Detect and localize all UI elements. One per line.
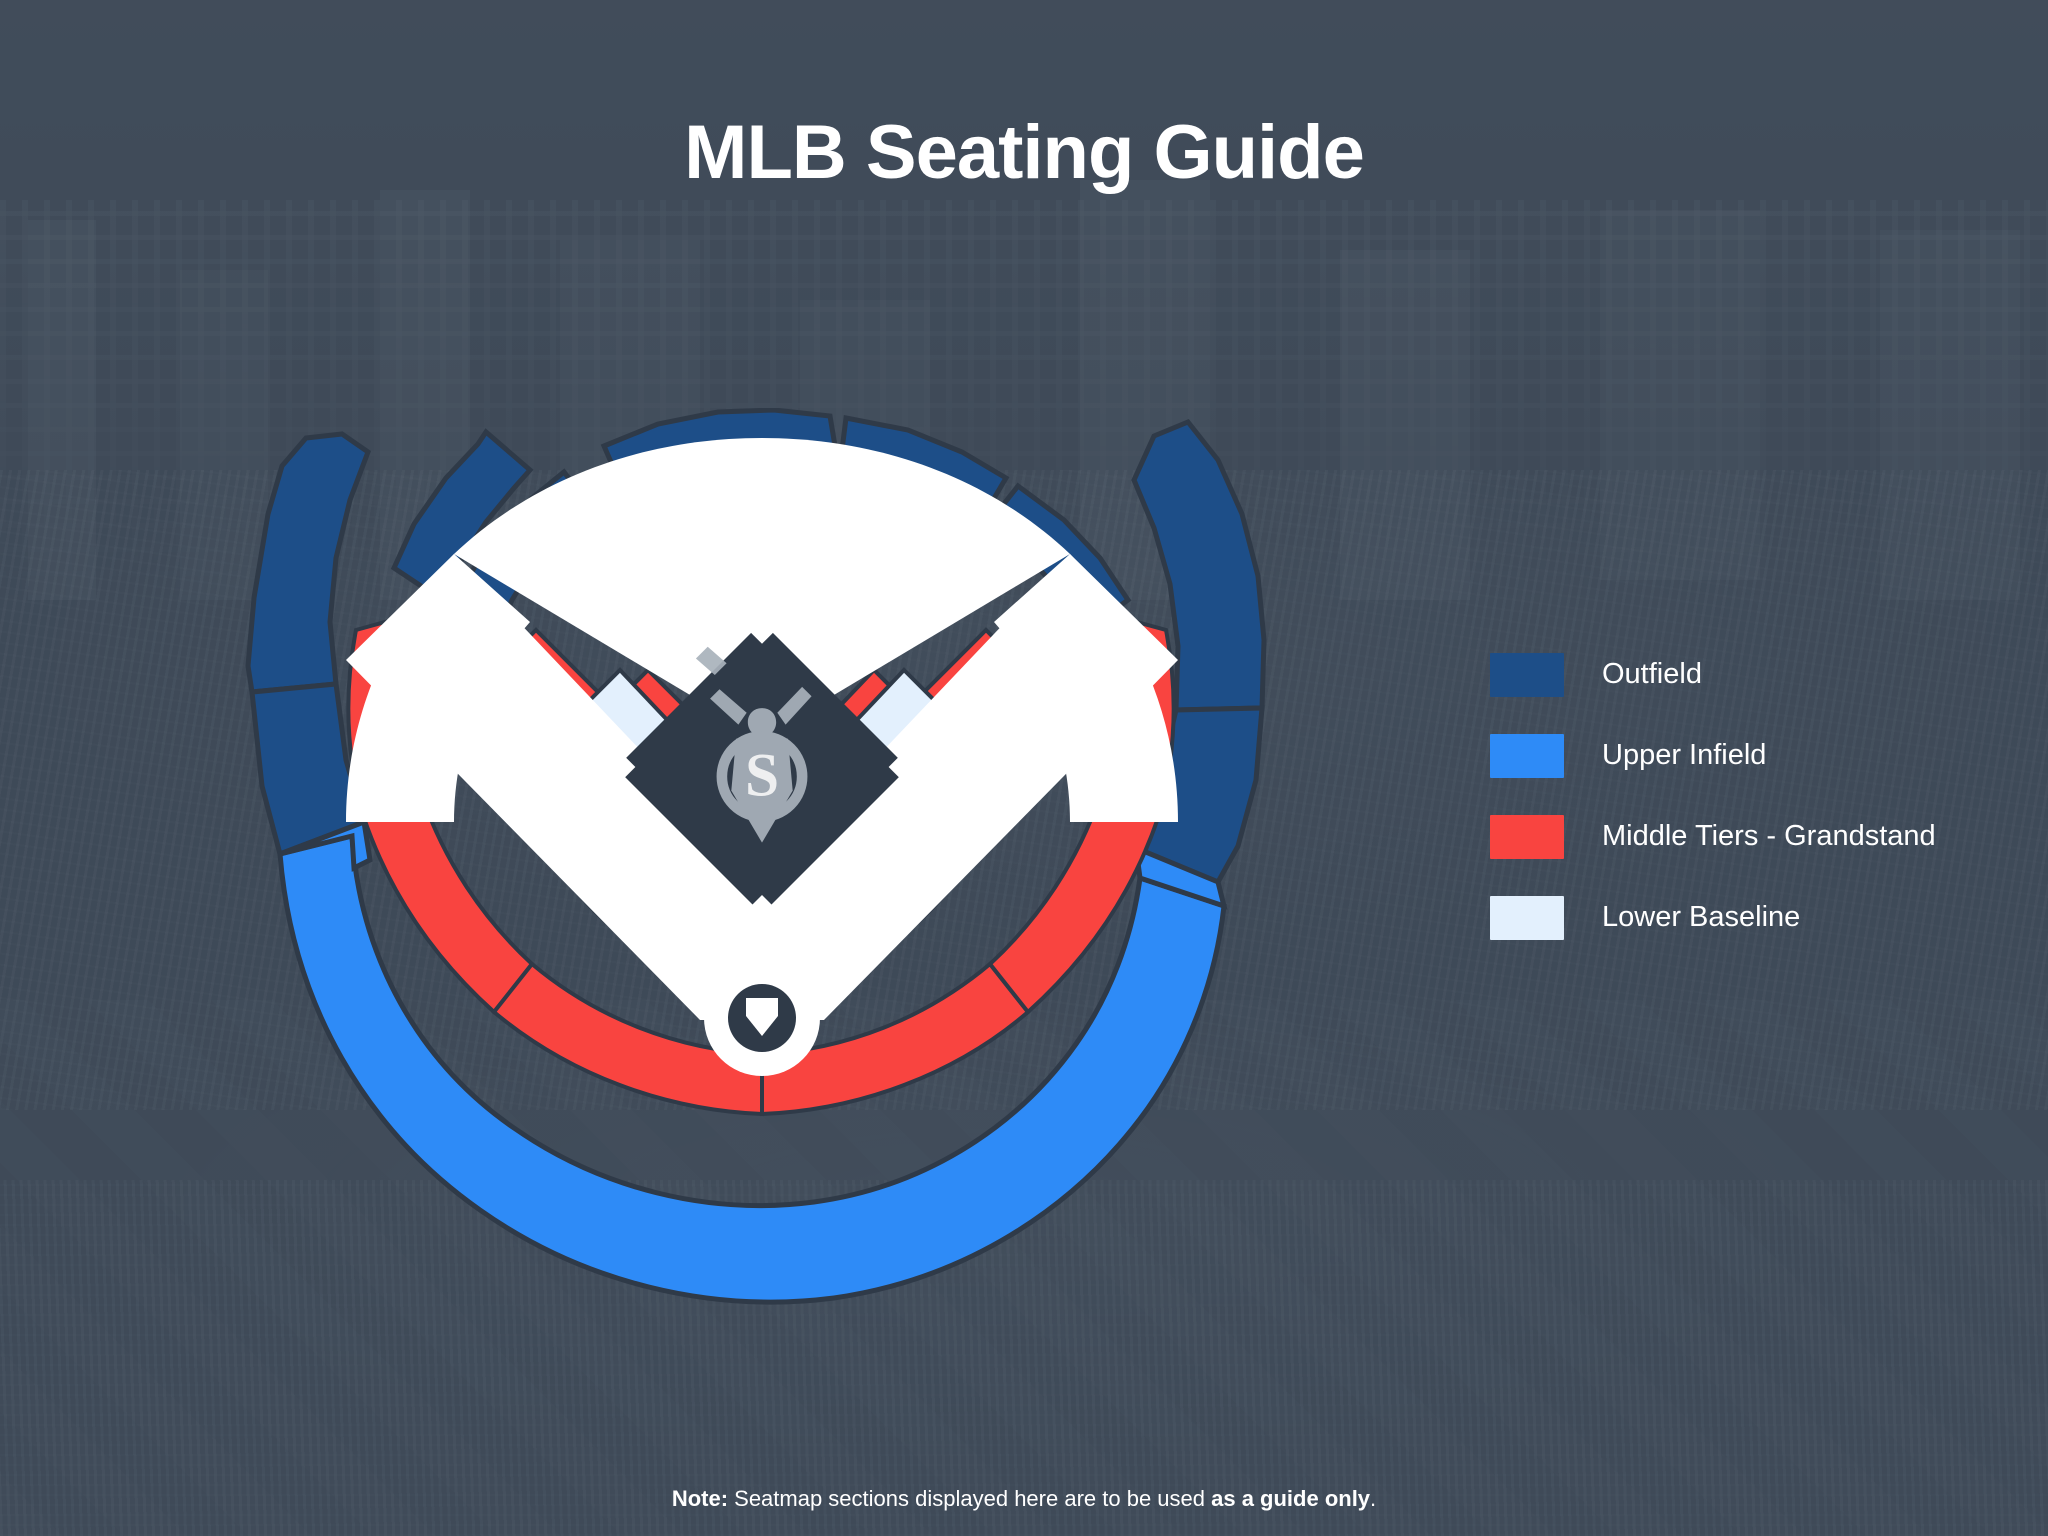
seating-legend: Outfield Upper Infield Middle Tiers - Gr… [1490, 634, 2010, 958]
footer-note-body: Seatmap sections displayed here are to b… [728, 1486, 1211, 1511]
section-outfield-left-upper[interactable] [248, 434, 368, 692]
legend-item-lower-baseline[interactable]: Lower Baseline [1490, 877, 2010, 958]
page-title: MLB Seating Guide [0, 113, 2048, 193]
stadium-seatmap[interactable]: S [218, 408, 1338, 1308]
footer-note-prefix: Note: [672, 1486, 728, 1511]
footer-note: Note: Seatmap sections displayed here ar… [0, 1486, 2048, 1512]
seating-guide-page: MLB Seating Guide [0, 0, 2048, 1536]
footer-note-emphasis: as a guide only [1211, 1486, 1370, 1511]
legend-label-upper-infield: Upper Infield [1602, 739, 1766, 772]
svg-text:S: S [745, 741, 779, 809]
legend-item-upper-infield[interactable]: Upper Infield [1490, 715, 2010, 796]
legend-swatch-middle-tiers [1490, 815, 1564, 859]
legend-swatch-upper-infield [1490, 734, 1564, 778]
legend-item-middle-tiers[interactable]: Middle Tiers - Grandstand [1490, 796, 2010, 877]
legend-label-middle-tiers: Middle Tiers - Grandstand [1602, 820, 1936, 853]
legend-label-outfield: Outfield [1602, 658, 1702, 691]
legend-swatch-lower-baseline [1490, 896, 1564, 940]
legend-swatch-outfield [1490, 653, 1564, 697]
footer-note-suffix: . [1370, 1486, 1376, 1511]
legend-label-lower-baseline: Lower Baseline [1602, 901, 1800, 934]
legend-item-outfield[interactable]: Outfield [1490, 634, 2010, 715]
